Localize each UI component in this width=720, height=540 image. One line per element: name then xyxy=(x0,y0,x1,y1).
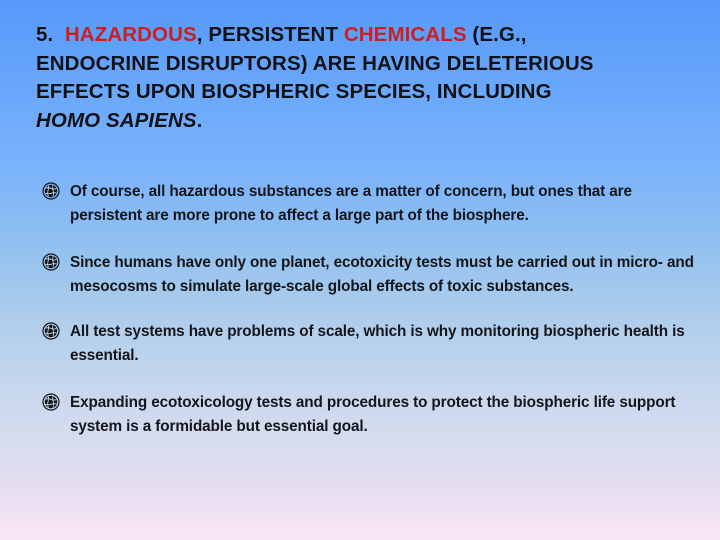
title-keyword-hazardous: HAZARDOUS xyxy=(65,23,197,46)
list-item-text: Of course, all hazardous substances are … xyxy=(70,180,700,227)
title-line-4: HOMO SAPIENS. xyxy=(36,107,692,136)
list-item: Expanding ecotoxicology tests and proced… xyxy=(40,391,700,438)
title-line1-mid: , PERSISTENT xyxy=(197,23,344,46)
bullet-list: Of course, all hazardous substances are … xyxy=(40,180,700,438)
list-item: Of course, all hazardous substances are … xyxy=(40,180,700,227)
title-line-3: EFFECTS UPON BIOSPHERIC SPECIES, INCLUDI… xyxy=(36,78,692,107)
list-item-text: All test systems have problems of scale,… xyxy=(70,320,700,367)
list-item: Since humans have only one planet, ecoto… xyxy=(40,251,700,298)
list-item-text: Expanding ecotoxicology tests and proced… xyxy=(70,391,700,438)
slide-title: 5. HAZARDOUS, PERSISTENT CHEMICALS (E.G.… xyxy=(36,21,692,135)
list-item: All test systems have problems of scale,… xyxy=(40,320,700,367)
slide-canvas: 5. HAZARDOUS, PERSISTENT CHEMICALS (E.G.… xyxy=(0,0,720,540)
title-line4-tail: . xyxy=(197,109,203,132)
title-number: 5. xyxy=(36,23,53,46)
list-item-text: Since humans have only one planet, ecoto… xyxy=(70,251,700,298)
globe-bullet-icon xyxy=(42,393,60,411)
title-line-1: 5. HAZARDOUS, PERSISTENT CHEMICALS (E.G.… xyxy=(36,21,692,50)
title-species-name: HOMO SAPIENS xyxy=(36,109,197,132)
title-keyword-chemicals: CHEMICALS xyxy=(344,23,467,46)
title-line-2: ENDOCRINE DISRUPTORS) ARE HAVING DELETER… xyxy=(36,50,692,79)
globe-bullet-icon xyxy=(42,322,60,340)
title-line1-tail: (E.G., xyxy=(467,23,527,46)
globe-bullet-icon xyxy=(42,253,60,271)
globe-bullet-icon xyxy=(42,182,60,200)
